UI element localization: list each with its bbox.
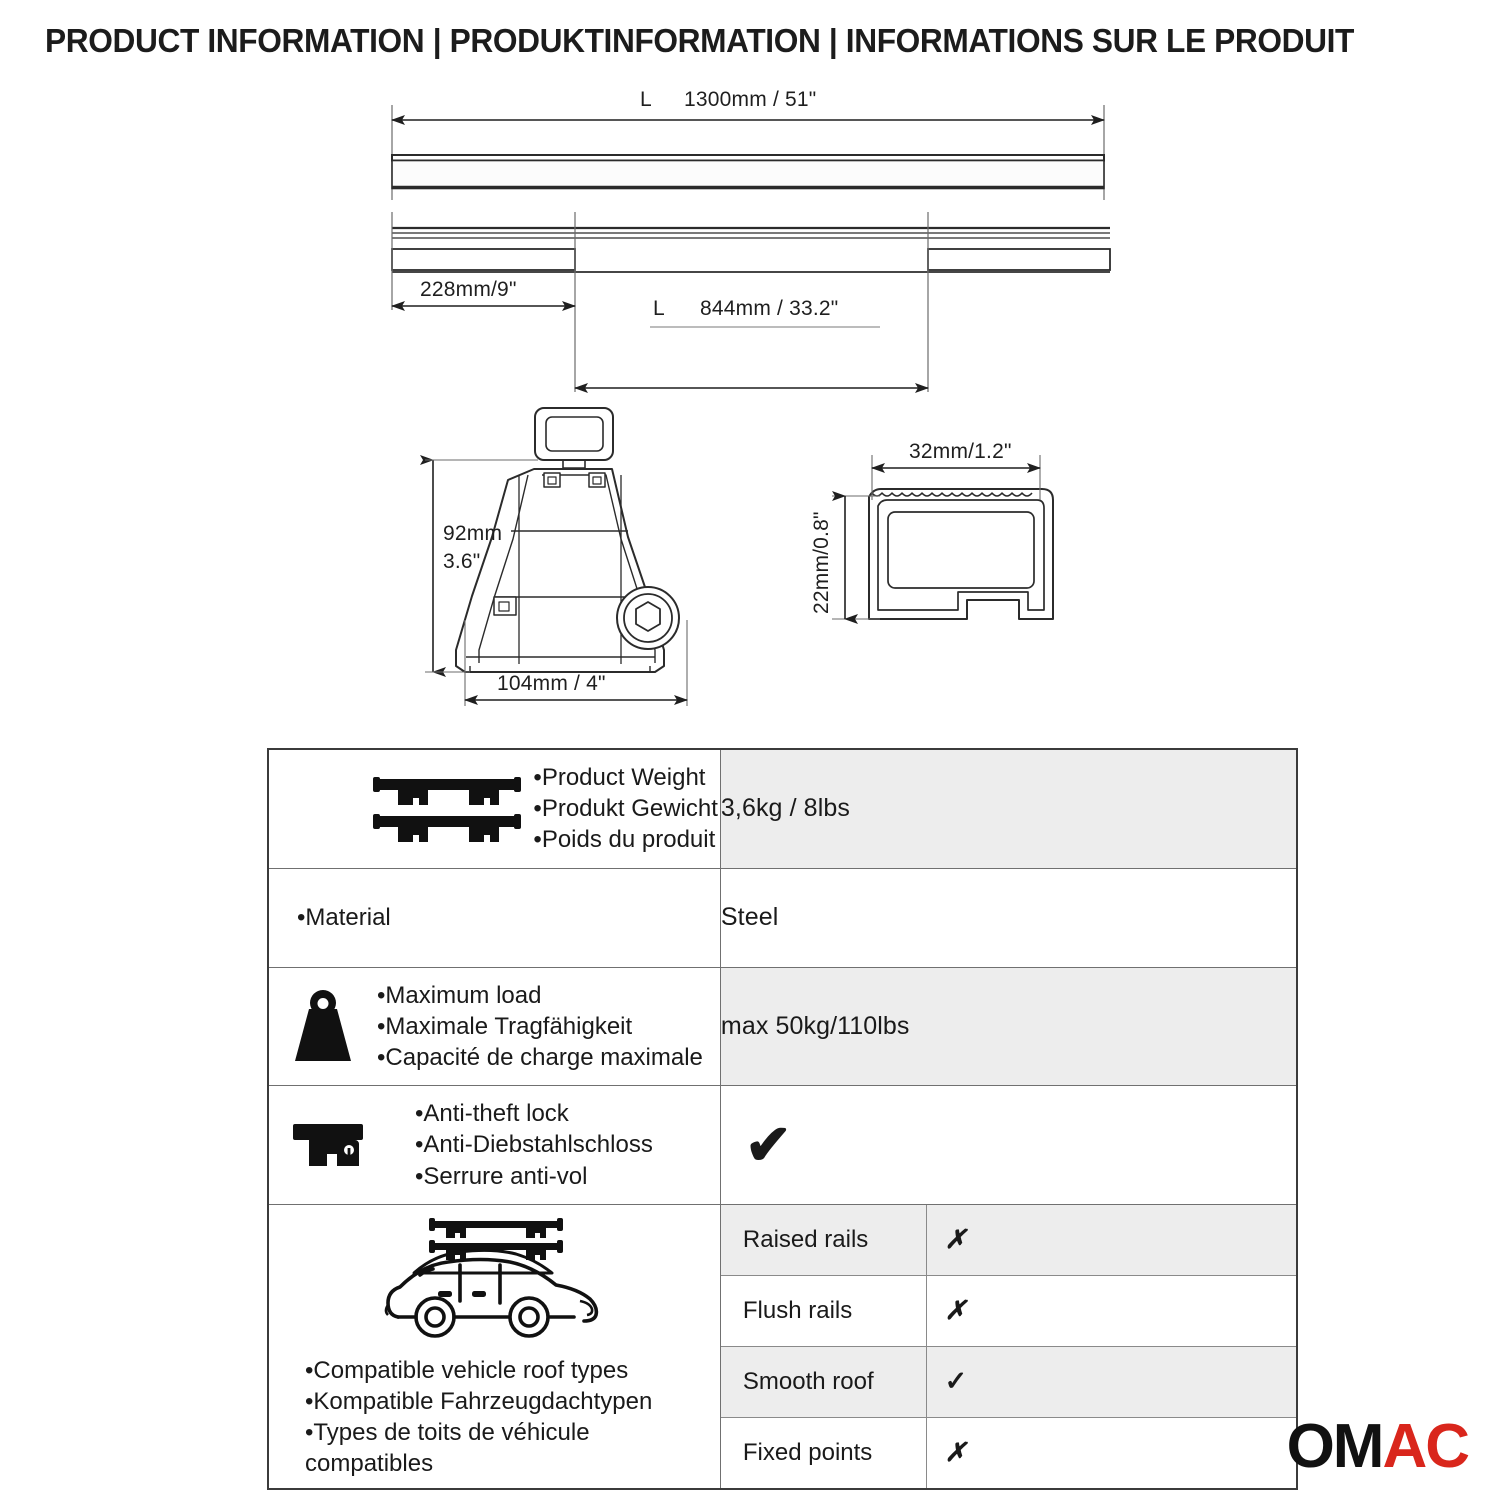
roof-option-mark: ✗ <box>926 1205 1296 1276</box>
car-with-crossbars-icon <box>269 1213 720 1345</box>
label-line-en: Compatible vehicle roof types <box>313 1357 628 1384</box>
roof-option-row: Flush rails ✗ <box>721 1275 1296 1346</box>
cross-icon: ✗ <box>945 1437 967 1467</box>
two-crossbars-icon <box>371 771 523 847</box>
label-text-product-weight: •Product Weight •Produkt Gewicht •Poids … <box>533 762 717 856</box>
label-cell-maximum-load: •Maximum load •Maximale Tragfähigkeit •C… <box>268 967 720 1086</box>
omac-logo: OMAC <box>1287 1416 1468 1478</box>
label-line-de: Maximale Tragfähigkeit <box>385 1013 632 1040</box>
check-icon: ✔ <box>721 1117 1296 1173</box>
label-line-en: Anti-theft lock <box>423 1100 568 1127</box>
roof-option-name: Smooth roof <box>721 1346 926 1417</box>
product-information-sheet: PRODUCT INFORMATION | PRODUKTINFORMATION… <box>0 0 1500 1500</box>
logo-text-black: OM <box>1287 1416 1383 1478</box>
dim-profile-height: 22mm/0.8" <box>810 511 833 614</box>
specification-table: •Product Weight •Produkt Gewicht •Poids … <box>267 748 1298 1490</box>
roof-option-mark: ✓ <box>926 1346 1296 1417</box>
check-icon: ✓ <box>945 1366 968 1396</box>
dim-foot-height-in: 3.6" <box>443 550 480 573</box>
label-line-fr: Poids du produit <box>542 826 715 853</box>
label-line-en: Product Weight <box>542 764 706 791</box>
label-line-fr: Serrure anti-vol <box>423 1163 587 1190</box>
dim-profile-width: 32mm/1.2" <box>909 440 1012 463</box>
logo-text-red: AC <box>1382 1416 1468 1478</box>
roof-option-mark: ✗ <box>926 1417 1296 1488</box>
roof-option-name: Fixed points <box>721 1417 926 1488</box>
dim-foot-width: 104mm / 4" <box>497 672 606 695</box>
roof-option-mark: ✗ <box>926 1275 1296 1346</box>
table-row-product-weight: •Product Weight •Produkt Gewicht •Poids … <box>268 749 1297 868</box>
lock-icon <box>291 1114 369 1176</box>
roof-option-row: Fixed points ✗ <box>721 1417 1296 1488</box>
dim-foot-offset: 228mm/9" <box>420 278 517 301</box>
label-text-maximum-load: •Maximum load •Maximale Tragfähigkeit •C… <box>377 980 703 1074</box>
dim-length-value: 1300mm / 51" <box>684 88 816 111</box>
label-cell-anti-theft-lock: •Anti-theft lock •Anti-Diebstahlschloss … <box>268 1086 720 1205</box>
table-row-roof-types: •Compatible vehicle roof types •Kompatib… <box>268 1204 1297 1489</box>
label-line-en: Material <box>305 904 390 931</box>
technical-drawing: L 1300mm / 51" <box>0 0 1500 740</box>
table-row-anti-theft-lock: •Anti-theft lock •Anti-Diebstahlschloss … <box>268 1086 1297 1205</box>
roof-option-name: Flush rails <box>721 1275 926 1346</box>
label-text-roof-types: •Compatible vehicle roof types •Kompatib… <box>269 1355 720 1480</box>
value-maximum-load: max 50kg/110lbs <box>720 967 1297 1086</box>
label-line-de: Produkt Gewicht <box>542 795 718 822</box>
label-line-en: Maximum load <box>385 982 541 1009</box>
roof-options-table: Raised rails ✗ Flush rails ✗ <box>721 1205 1296 1488</box>
label-line-fr: Capacité de charge maximale <box>385 1044 703 1071</box>
label-text-material: •Material <box>297 902 391 933</box>
label-line-fr-wrap: compatibles <box>305 1450 433 1477</box>
roof-option-row: Smooth roof ✓ <box>721 1346 1296 1417</box>
value-product-weight: 3,6kg / 8lbs <box>720 749 1297 868</box>
table-row-material: •Material Steel <box>268 868 1297 967</box>
roof-options-cell: Raised rails ✗ Flush rails ✗ <box>720 1204 1297 1489</box>
crossbar-top-view <box>392 155 1104 189</box>
value-anti-theft-lock: ✔ <box>720 1086 1297 1205</box>
table-row-maximum-load: •Maximum load •Maximale Tragfähigkeit •C… <box>268 967 1297 1086</box>
label-cell-roof-types: •Compatible vehicle roof types •Kompatib… <box>268 1204 720 1489</box>
label-cell-product-weight: •Product Weight •Produkt Gewicht •Poids … <box>268 749 720 868</box>
drawing-svg: L 1300mm / 51" <box>0 0 1500 740</box>
label-line-de: Kompatible Fahrzeugdachtypen <box>313 1388 652 1415</box>
dim-span-value: 844mm / 33.2" <box>700 297 838 320</box>
cross-icon: ✗ <box>945 1295 967 1325</box>
label-cell-material: •Material <box>268 868 720 967</box>
roof-option-name: Raised rails <box>721 1205 926 1276</box>
label-line-fr: Types de toits de véhicule <box>313 1419 589 1446</box>
bar-cross-section <box>869 489 1053 619</box>
weight-icon <box>287 987 359 1065</box>
crossbar-side-view <box>392 228 1110 272</box>
roof-option-row: Raised rails ✗ <box>721 1205 1296 1276</box>
dim-span-prefix: L <box>653 297 665 320</box>
cross-icon: ✗ <box>945 1224 967 1254</box>
dim-foot-height-mm: 92mm <box>443 522 502 545</box>
value-material: Steel <box>720 868 1297 967</box>
label-text-anti-theft-lock: •Anti-theft lock •Anti-Diebstahlschloss … <box>415 1098 653 1192</box>
label-line-de: Anti-Diebstahlschloss <box>423 1131 652 1158</box>
dim-length-prefix: L <box>640 88 652 111</box>
